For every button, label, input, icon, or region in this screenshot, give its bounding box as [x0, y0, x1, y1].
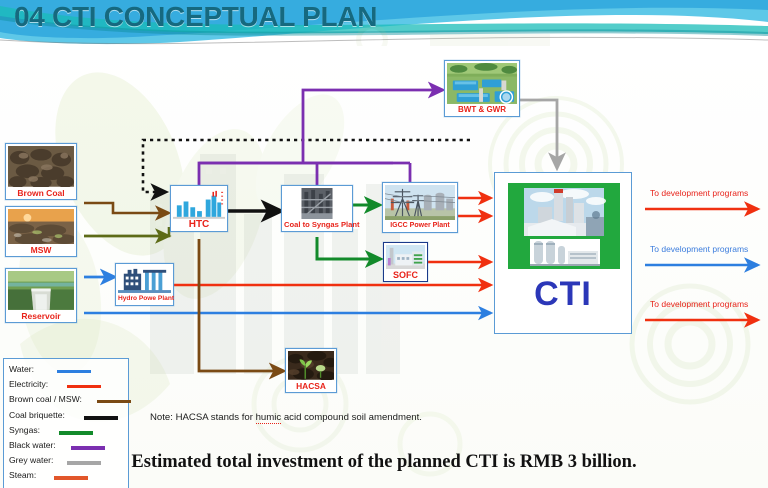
node-label: Coal to Syngas Plant [284, 219, 350, 231]
node-msw[interactable]: MSW [5, 206, 77, 257]
node-coal-to-syngas-plant[interactable]: Coal to Syngas Plant [281, 185, 353, 232]
legend-swatch-water [57, 370, 91, 373]
note-suffix: acid compound soil amendment. [281, 412, 422, 423]
node-sofc[interactable]: SOFC [383, 242, 428, 282]
node-reservoir[interactable]: Reservoir [5, 268, 77, 323]
power-pylon-photo-icon [385, 185, 455, 220]
coal-pile-photo-icon [8, 146, 74, 187]
node-label: IGCC Power Plant [385, 220, 455, 232]
node-label: HACSA [288, 380, 334, 392]
legend-label: Electricity: [9, 379, 48, 389]
node-label: Hydro Powe Plant [118, 293, 171, 305]
legend-item: Grey water: [9, 454, 128, 469]
industrial-plant-photo-icon [508, 183, 620, 269]
landfill-photo-icon [8, 209, 74, 244]
syngas-plant-photo-icon [284, 188, 350, 219]
node-label: Reservoir [8, 310, 74, 322]
legend-swatch-syngas [59, 431, 93, 435]
legend-item: Steam: [9, 469, 128, 484]
htc-chart-photo-icon [173, 188, 225, 219]
legend-swatch-black-water [71, 446, 105, 450]
legend-item: Brown coal / MSW: [9, 393, 128, 408]
node-label: Brown Coal [8, 187, 74, 199]
cti-label: CTI [495, 275, 631, 314]
sofc-building-photo-icon [386, 245, 425, 269]
node-label: MSW [8, 244, 74, 256]
note-underlined-word: humic [256, 412, 282, 424]
output-label-1: To development programs [650, 188, 748, 198]
node-igcc-power-plant[interactable]: IGCC Power Plant [382, 182, 458, 233]
legend-item: Syngas: [9, 424, 128, 439]
legend-swatch-coal-briquette [84, 416, 118, 420]
node-hydro-power-plant[interactable]: Hydro Powe Plant [115, 263, 174, 306]
legend-swatch-grey-water [67, 461, 101, 465]
node-label: BWT & GWR [447, 104, 517, 116]
legend-item: Water: [9, 363, 128, 378]
legend-swatch-electricity [67, 385, 101, 388]
page-title: 04 CTI CONCEPTUAL PLAN [14, 1, 377, 33]
hydro-plant-photo-icon [118, 266, 171, 293]
dam-photo-icon [8, 271, 74, 310]
output-label-3: To development programs [650, 299, 748, 309]
node-label: SOFC [386, 269, 425, 281]
legend-label: Brown coal / MSW: [9, 394, 82, 404]
seedling-soil-photo-icon [288, 351, 334, 380]
legend-swatch-brown-coal-msw [97, 400, 131, 403]
slide-canvas: 04 CTI CONCEPTUAL PLAN [0, 0, 768, 488]
legend-label: Water: [9, 364, 34, 374]
node-label: HTC [173, 219, 225, 231]
legend-swatch-steam [54, 476, 88, 480]
legend-label: Grey water: [9, 455, 53, 465]
output-label-2: To development programs [650, 244, 748, 254]
node-cti[interactable]: CTI [494, 172, 632, 334]
legend-panel: Water: Electricity: Brown coal / MSW: Co… [3, 358, 129, 488]
note-text: Note: HACSA stands for humic acid compou… [150, 412, 422, 423]
legend-label: Syngas: [9, 425, 40, 435]
node-hacsa[interactable]: HACSA [285, 348, 337, 393]
legend-label: Black water: [9, 440, 56, 450]
note-prefix: Note: HACSA stands for [150, 412, 256, 423]
water-treatment-photo-icon [447, 63, 517, 104]
legend-label: Coal briquette: [9, 410, 65, 420]
legend-item: Electricity: [9, 378, 128, 393]
legend-label: Steam: [9, 470, 36, 480]
node-brown-coal[interactable]: Brown Coal [5, 143, 77, 200]
node-htc[interactable]: HTC [170, 185, 228, 232]
legend-item: Black water: [9, 439, 128, 454]
legend-item: Coal briquette: [9, 409, 128, 424]
node-bwt-gwr[interactable]: BWT & GWR [444, 60, 520, 117]
cti-image-panel [508, 183, 620, 269]
